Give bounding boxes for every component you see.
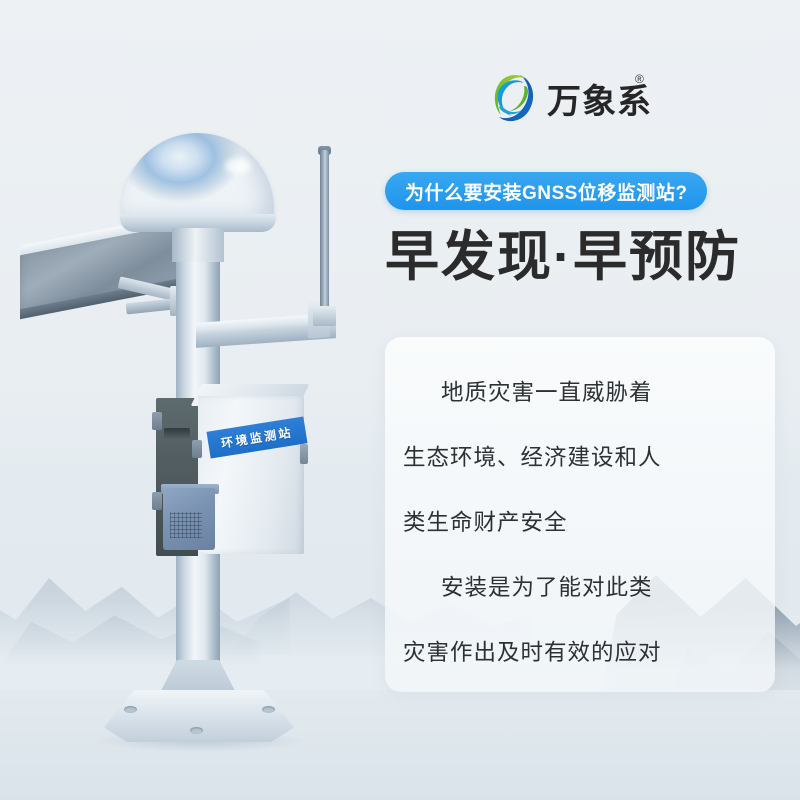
- base-bolt-hole-front: [190, 727, 203, 734]
- body-line-4: 安装是为了能对此类: [441, 577, 653, 600]
- whip-antenna-base: [313, 306, 336, 326]
- globe-swirl-icon: [490, 72, 538, 124]
- body-line-1: 地质灾害一直威胁着: [441, 382, 653, 405]
- cabinet-clamp-middle: [192, 440, 202, 458]
- whip-antenna: [320, 150, 329, 312]
- cabinet-clamp-lower-left: [152, 492, 162, 510]
- page-title: 早发现·早预防: [385, 228, 785, 286]
- cabinet-side-vent: [164, 428, 190, 440]
- brand-lockup: 万象系 ®: [490, 68, 690, 128]
- description-panel: 地质灾害一直威胁着 生态环境、经济建设和人 类生命财产安全 安装是为了能对此类 …: [385, 337, 775, 692]
- cabinet-vent-grill: [170, 512, 202, 538]
- question-badge: 为什么要安装GNSS位移监测站?: [385, 172, 707, 210]
- body-line-2: 生态环境、经济建设和人: [403, 447, 662, 470]
- registered-trademark-icon: ®: [635, 72, 644, 86]
- base-bolt-hole-right: [262, 706, 275, 713]
- dome-highlight: [225, 158, 251, 174]
- cabinet-latch: [300, 444, 308, 464]
- monitoring-station-illustration: 环境监测站: [0, 0, 400, 800]
- body-line-5: 灾害作出及时有效的应对: [403, 642, 662, 665]
- poster-canvas: 环境监测站: [0, 0, 800, 800]
- cabinet-clamp-upper-left: [152, 412, 162, 430]
- base-plate: [104, 690, 294, 742]
- body-line-3: 类生命财产安全: [403, 512, 568, 535]
- gnss-antenna-dome: [122, 133, 274, 225]
- dome-neck: [172, 228, 224, 262]
- base-bolt-hole-left: [124, 706, 137, 713]
